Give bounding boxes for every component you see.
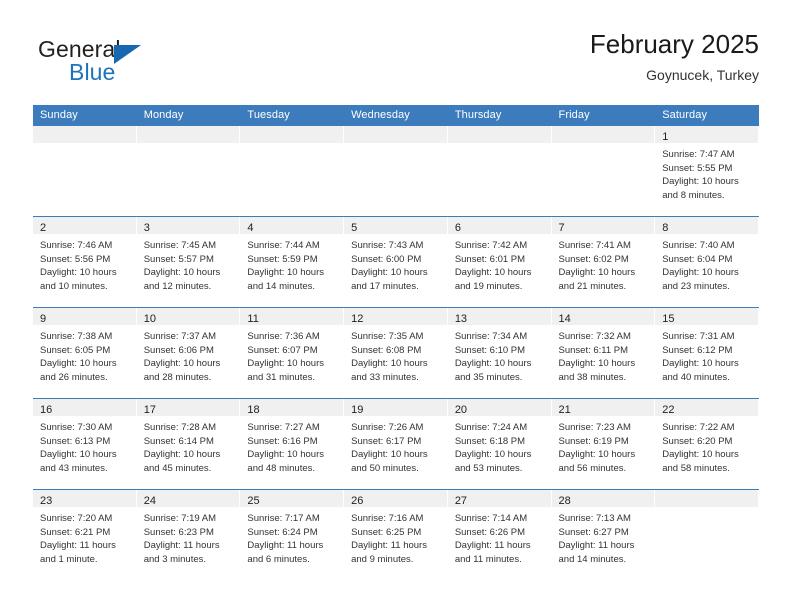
day-number: 27	[455, 495, 467, 507]
daylight-duration-line2: and 3 minutes.	[144, 553, 235, 567]
daylight-duration-line2: and 35 minutes.	[455, 371, 546, 385]
calendar-cell-empty	[448, 126, 552, 217]
daylight-duration-line1: Daylight: 10 hours	[559, 266, 650, 280]
day-number-band: 4	[240, 217, 344, 234]
daylight-duration-line2: and 10 minutes.	[40, 280, 131, 294]
calendar-day-cell[interactable]: 21Sunrise: 7:23 AMSunset: 6:19 PMDayligh…	[552, 399, 656, 490]
daylight-duration-line2: and 28 minutes.	[144, 371, 235, 385]
day-number-band: 6	[448, 217, 552, 234]
calendar-day-cell[interactable]: 3Sunrise: 7:45 AMSunset: 5:57 PMDaylight…	[137, 217, 241, 308]
daylight-duration-line1: Daylight: 10 hours	[351, 266, 442, 280]
sunset-time: Sunset: 6:12 PM	[662, 344, 753, 358]
day-number: 17	[144, 404, 156, 416]
daylight-duration-line1: Daylight: 10 hours	[247, 266, 338, 280]
daylight-duration-line2: and 31 minutes.	[247, 371, 338, 385]
daylight-duration-line2: and 14 minutes.	[559, 553, 650, 567]
calendar-day-cell[interactable]: 18Sunrise: 7:27 AMSunset: 6:16 PMDayligh…	[240, 399, 344, 490]
day-number-band: 10	[137, 308, 241, 325]
sunrise-time: Sunrise: 7:28 AM	[144, 421, 235, 435]
day-details: Sunrise: 7:28 AMSunset: 6:14 PMDaylight:…	[137, 416, 241, 475]
sunrise-time: Sunrise: 7:41 AM	[559, 239, 650, 253]
day-number-band: 16	[33, 399, 137, 416]
sunset-time: Sunset: 6:24 PM	[247, 526, 338, 540]
weekday-header-wednesday: Wednesday	[344, 105, 448, 126]
day-details: Sunrise: 7:34 AMSunset: 6:10 PMDaylight:…	[448, 325, 552, 384]
day-details: Sunrise: 7:27 AMSunset: 6:16 PMDaylight:…	[240, 416, 344, 475]
daylight-duration-line1: Daylight: 10 hours	[40, 448, 131, 462]
daylight-duration-line2: and 11 minutes.	[455, 553, 546, 567]
daylight-duration-line1: Daylight: 10 hours	[559, 357, 650, 371]
daylight-duration-line1: Daylight: 10 hours	[351, 448, 442, 462]
sunrise-time: Sunrise: 7:17 AM	[247, 512, 338, 526]
day-number: 11	[247, 313, 258, 325]
calendar-week-row: 2Sunrise: 7:46 AMSunset: 5:56 PMDaylight…	[33, 217, 759, 308]
sunrise-time: Sunrise: 7:40 AM	[662, 239, 753, 253]
page-title: February 2025	[590, 28, 759, 60]
daylight-duration-line1: Daylight: 10 hours	[662, 175, 753, 189]
sunset-time: Sunset: 5:55 PM	[662, 162, 753, 176]
daylight-duration-line1: Daylight: 10 hours	[559, 448, 650, 462]
daylight-duration-line1: Daylight: 10 hours	[662, 266, 753, 280]
day-number-band: 22	[655, 399, 759, 416]
day-number: 20	[455, 404, 467, 416]
sunrise-time: Sunrise: 7:30 AM	[40, 421, 131, 435]
day-details: Sunrise: 7:30 AMSunset: 6:13 PMDaylight:…	[33, 416, 137, 475]
sunrise-time: Sunrise: 7:43 AM	[351, 239, 442, 253]
sunrise-time: Sunrise: 7:22 AM	[662, 421, 753, 435]
daylight-duration-line2: and 6 minutes.	[247, 553, 338, 567]
day-number: 7	[559, 222, 565, 234]
calendar-day-cell[interactable]: 4Sunrise: 7:44 AMSunset: 5:59 PMDaylight…	[240, 217, 344, 308]
day-number-band: 12	[344, 308, 448, 325]
daylight-duration-line1: Daylight: 10 hours	[247, 448, 338, 462]
day-number: 21	[559, 404, 571, 416]
daylight-duration-line1: Daylight: 10 hours	[247, 357, 338, 371]
daylight-duration-line1: Daylight: 11 hours	[559, 539, 650, 553]
day-number: 3	[144, 222, 150, 234]
sunset-time: Sunset: 6:02 PM	[559, 253, 650, 267]
day-number-band: 24	[137, 490, 241, 507]
daylight-duration-line1: Daylight: 11 hours	[455, 539, 546, 553]
sunset-time: Sunset: 6:04 PM	[662, 253, 753, 267]
day-details: Sunrise: 7:40 AMSunset: 6:04 PMDaylight:…	[655, 234, 759, 293]
daylight-duration-line1: Daylight: 10 hours	[40, 357, 131, 371]
sunrise-time: Sunrise: 7:37 AM	[144, 330, 235, 344]
weekday-header-friday: Friday	[552, 105, 656, 126]
day-details: Sunrise: 7:42 AMSunset: 6:01 PMDaylight:…	[448, 234, 552, 293]
daylight-duration-line2: and 21 minutes.	[559, 280, 650, 294]
day-number-band	[33, 126, 137, 143]
weekday-header-tuesday: Tuesday	[240, 105, 344, 126]
page-header: General Blue February 2025 Goynucek, Tur…	[33, 28, 759, 98]
calendar-cell-empty	[655, 490, 759, 581]
calendar-day-cell[interactable]: 2Sunrise: 7:46 AMSunset: 5:56 PMDaylight…	[33, 217, 137, 308]
sunrise-time: Sunrise: 7:27 AM	[247, 421, 338, 435]
day-number-band	[448, 126, 552, 143]
weekday-header-thursday: Thursday	[448, 105, 552, 126]
weekday-header-sunday: Sunday	[33, 105, 137, 126]
sunset-time: Sunset: 6:23 PM	[144, 526, 235, 540]
day-details: Sunrise: 7:23 AMSunset: 6:19 PMDaylight:…	[552, 416, 656, 475]
sunset-time: Sunset: 6:16 PM	[247, 435, 338, 449]
day-details: Sunrise: 7:47 AMSunset: 5:55 PMDaylight:…	[655, 143, 759, 202]
weekday-header-row: Sunday Monday Tuesday Wednesday Thursday…	[33, 105, 759, 126]
day-details: Sunrise: 7:14 AMSunset: 6:26 PMDaylight:…	[448, 507, 552, 566]
daylight-duration-line2: and 58 minutes.	[662, 462, 753, 476]
sunrise-time: Sunrise: 7:13 AM	[559, 512, 650, 526]
sunset-time: Sunset: 6:13 PM	[40, 435, 131, 449]
sunset-time: Sunset: 5:57 PM	[144, 253, 235, 267]
day-details: Sunrise: 7:36 AMSunset: 6:07 PMDaylight:…	[240, 325, 344, 384]
day-number: 22	[662, 404, 674, 416]
calendar-week-row: 1Sunrise: 7:47 AMSunset: 5:55 PMDaylight…	[33, 126, 759, 217]
sunrise-time: Sunrise: 7:24 AM	[455, 421, 546, 435]
day-number: 10	[144, 313, 156, 325]
calendar-day-cell[interactable]: 26Sunrise: 7:16 AMSunset: 6:25 PMDayligh…	[344, 490, 448, 581]
sunrise-time: Sunrise: 7:34 AM	[455, 330, 546, 344]
day-details: Sunrise: 7:19 AMSunset: 6:23 PMDaylight:…	[137, 507, 241, 566]
day-number-band: 19	[344, 399, 448, 416]
day-number: 15	[662, 313, 674, 325]
calendar-day-cell[interactable]: 15Sunrise: 7:31 AMSunset: 6:12 PMDayligh…	[655, 308, 759, 399]
calendar-cell-empty	[552, 126, 656, 217]
day-number-band	[655, 490, 759, 507]
daylight-duration-line1: Daylight: 11 hours	[351, 539, 442, 553]
sunset-time: Sunset: 5:56 PM	[40, 253, 131, 267]
day-number-band: 5	[344, 217, 448, 234]
daylight-duration-line1: Daylight: 10 hours	[662, 448, 753, 462]
sunset-time: Sunset: 6:00 PM	[351, 253, 442, 267]
logo-text-blue: Blue	[69, 59, 115, 86]
daylight-duration-line1: Daylight: 10 hours	[455, 448, 546, 462]
sunrise-time: Sunrise: 7:36 AM	[247, 330, 338, 344]
calendar-body: 1Sunrise: 7:47 AMSunset: 5:55 PMDaylight…	[33, 126, 759, 580]
calendar-day-cell[interactable]: 8Sunrise: 7:40 AMSunset: 6:04 PMDaylight…	[655, 217, 759, 308]
day-number: 9	[40, 313, 46, 325]
day-number-band: 17	[137, 399, 241, 416]
calendar-cell-empty	[33, 126, 137, 217]
sunset-time: Sunset: 6:06 PM	[144, 344, 235, 358]
day-number: 4	[247, 222, 253, 234]
daylight-duration-line1: Daylight: 10 hours	[662, 357, 753, 371]
calendar-week-row: 16Sunrise: 7:30 AMSunset: 6:13 PMDayligh…	[33, 399, 759, 490]
daylight-duration-line1: Daylight: 10 hours	[144, 266, 235, 280]
daylight-duration-line2: and 1 minute.	[40, 553, 131, 567]
day-number: 8	[662, 222, 668, 234]
day-number-band: 28	[552, 490, 656, 507]
day-number-band: 20	[448, 399, 552, 416]
sunrise-sunset-calendar: Sunday Monday Tuesday Wednesday Thursday…	[33, 105, 759, 580]
day-number-band: 23	[33, 490, 137, 507]
day-number: 12	[351, 313, 363, 325]
daylight-duration-line1: Daylight: 10 hours	[455, 266, 546, 280]
daylight-duration-line2: and 45 minutes.	[144, 462, 235, 476]
sunset-time: Sunset: 6:25 PM	[351, 526, 442, 540]
calendar-day-cell[interactable]: 10Sunrise: 7:37 AMSunset: 6:06 PMDayligh…	[137, 308, 241, 399]
day-number-band: 8	[655, 217, 759, 234]
daylight-duration-line2: and 40 minutes.	[662, 371, 753, 385]
calendar-day-cell[interactable]: 12Sunrise: 7:35 AMSunset: 6:08 PMDayligh…	[344, 308, 448, 399]
calendar-week-row: 23Sunrise: 7:20 AMSunset: 6:21 PMDayligh…	[33, 490, 759, 581]
day-number-band: 15	[655, 308, 759, 325]
day-number: 19	[351, 404, 363, 416]
daylight-duration-line2: and 17 minutes.	[351, 280, 442, 294]
sunrise-time: Sunrise: 7:16 AM	[351, 512, 442, 526]
calendar-day-cell[interactable]: 22Sunrise: 7:22 AMSunset: 6:20 PMDayligh…	[655, 399, 759, 490]
day-number: 23	[40, 495, 52, 507]
sunset-time: Sunset: 6:08 PM	[351, 344, 442, 358]
daylight-duration-line1: Daylight: 10 hours	[144, 448, 235, 462]
daylight-duration-line2: and 8 minutes.	[662, 189, 753, 203]
daylight-duration-line1: Daylight: 10 hours	[144, 357, 235, 371]
daylight-duration-line2: and 26 minutes.	[40, 371, 131, 385]
sunset-time: Sunset: 6:01 PM	[455, 253, 546, 267]
general-blue-logo[interactable]: General Blue	[38, 36, 238, 92]
daylight-duration-line1: Daylight: 11 hours	[144, 539, 235, 553]
day-details: Sunrise: 7:17 AMSunset: 6:24 PMDaylight:…	[240, 507, 344, 566]
weekday-header-saturday: Saturday	[655, 105, 759, 126]
calendar-cell-empty	[240, 126, 344, 217]
sunset-time: Sunset: 6:17 PM	[351, 435, 442, 449]
sunset-time: Sunset: 6:07 PM	[247, 344, 338, 358]
daylight-duration-line2: and 50 minutes.	[351, 462, 442, 476]
sunrise-time: Sunrise: 7:32 AM	[559, 330, 650, 344]
day-number-band	[137, 126, 241, 143]
sunset-time: Sunset: 5:59 PM	[247, 253, 338, 267]
sunset-time: Sunset: 6:11 PM	[559, 344, 650, 358]
calendar-cell-empty	[344, 126, 448, 217]
daylight-duration-line1: Daylight: 10 hours	[455, 357, 546, 371]
day-number-band: 25	[240, 490, 344, 507]
daylight-duration-line1: Daylight: 10 hours	[351, 357, 442, 371]
sunset-time: Sunset: 6:19 PM	[559, 435, 650, 449]
day-details: Sunrise: 7:37 AMSunset: 6:06 PMDaylight:…	[137, 325, 241, 384]
day-number: 5	[351, 222, 357, 234]
daylight-duration-line2: and 53 minutes.	[455, 462, 546, 476]
day-number-band	[552, 126, 656, 143]
daylight-duration-line2: and 9 minutes.	[351, 553, 442, 567]
day-details: Sunrise: 7:44 AMSunset: 5:59 PMDaylight:…	[240, 234, 344, 293]
sunrise-time: Sunrise: 7:19 AM	[144, 512, 235, 526]
calendar-day-cell[interactable]: 9Sunrise: 7:38 AMSunset: 6:05 PMDaylight…	[33, 308, 137, 399]
sunrise-time: Sunrise: 7:14 AM	[455, 512, 546, 526]
calendar-day-cell[interactable]: 1Sunrise: 7:47 AMSunset: 5:55 PMDaylight…	[655, 126, 759, 217]
day-details: Sunrise: 7:38 AMSunset: 6:05 PMDaylight:…	[33, 325, 137, 384]
day-number: 6	[455, 222, 461, 234]
daylight-duration-line2: and 56 minutes.	[559, 462, 650, 476]
day-number: 16	[40, 404, 52, 416]
daylight-duration-line2: and 23 minutes.	[662, 280, 753, 294]
day-details: Sunrise: 7:31 AMSunset: 6:12 PMDaylight:…	[655, 325, 759, 384]
sunset-time: Sunset: 6:20 PM	[662, 435, 753, 449]
day-number-band: 13	[448, 308, 552, 325]
sunrise-time: Sunrise: 7:31 AM	[662, 330, 753, 344]
day-details: Sunrise: 7:35 AMSunset: 6:08 PMDaylight:…	[344, 325, 448, 384]
calendar-day-cell[interactable]: 25Sunrise: 7:17 AMSunset: 6:24 PMDayligh…	[240, 490, 344, 581]
daylight-duration-line2: and 43 minutes.	[40, 462, 131, 476]
day-number: 1	[662, 131, 668, 143]
sunset-time: Sunset: 6:21 PM	[40, 526, 131, 540]
sunrise-time: Sunrise: 7:45 AM	[144, 239, 235, 253]
daylight-duration-line2: and 12 minutes.	[144, 280, 235, 294]
sunrise-time: Sunrise: 7:23 AM	[559, 421, 650, 435]
calendar-day-cell[interactable]: 28Sunrise: 7:13 AMSunset: 6:27 PMDayligh…	[552, 490, 656, 581]
calendar-day-cell[interactable]: 6Sunrise: 7:42 AMSunset: 6:01 PMDaylight…	[448, 217, 552, 308]
day-number: 24	[144, 495, 156, 507]
day-number-band: 21	[552, 399, 656, 416]
sunset-time: Sunset: 6:05 PM	[40, 344, 131, 358]
daylight-duration-line2: and 48 minutes.	[247, 462, 338, 476]
calendar-page: General Blue February 2025 Goynucek, Tur…	[0, 0, 792, 612]
calendar-day-cell[interactable]: 20Sunrise: 7:24 AMSunset: 6:18 PMDayligh…	[448, 399, 552, 490]
day-number-band	[344, 126, 448, 143]
sunrise-time: Sunrise: 7:26 AM	[351, 421, 442, 435]
daylight-duration-line2: and 38 minutes.	[559, 371, 650, 385]
calendar-day-cell[interactable]: 14Sunrise: 7:32 AMSunset: 6:11 PMDayligh…	[552, 308, 656, 399]
day-number: 26	[351, 495, 363, 507]
day-details: Sunrise: 7:13 AMSunset: 6:27 PMDaylight:…	[552, 507, 656, 566]
daylight-duration-line1: Daylight: 11 hours	[40, 539, 131, 553]
day-number: 25	[247, 495, 259, 507]
sunrise-time: Sunrise: 7:42 AM	[455, 239, 546, 253]
weekday-header-monday: Monday	[137, 105, 241, 126]
title-block: February 2025 Goynucek, Turkey	[590, 28, 759, 85]
day-details: Sunrise: 7:26 AMSunset: 6:17 PMDaylight:…	[344, 416, 448, 475]
day-number: 18	[247, 404, 259, 416]
calendar-day-cell[interactable]: 7Sunrise: 7:41 AMSunset: 6:02 PMDaylight…	[552, 217, 656, 308]
day-number-band: 14	[552, 308, 656, 325]
day-number-band: 1	[655, 126, 759, 143]
sunset-time: Sunset: 6:18 PM	[455, 435, 546, 449]
day-number-band: 7	[552, 217, 656, 234]
day-number-band: 27	[448, 490, 552, 507]
calendar-week-row: 9Sunrise: 7:38 AMSunset: 6:05 PMDaylight…	[33, 308, 759, 399]
sunset-time: Sunset: 6:10 PM	[455, 344, 546, 358]
daylight-duration-line2: and 33 minutes.	[351, 371, 442, 385]
calendar-day-cell[interactable]: 24Sunrise: 7:19 AMSunset: 6:23 PMDayligh…	[137, 490, 241, 581]
day-number-band: 26	[344, 490, 448, 507]
day-details: Sunrise: 7:22 AMSunset: 6:20 PMDaylight:…	[655, 416, 759, 475]
sunrise-time: Sunrise: 7:47 AM	[662, 148, 753, 162]
sunrise-time: Sunrise: 7:38 AM	[40, 330, 131, 344]
calendar-day-cell[interactable]: 16Sunrise: 7:30 AMSunset: 6:13 PMDayligh…	[33, 399, 137, 490]
calendar-day-cell[interactable]: 13Sunrise: 7:34 AMSunset: 6:10 PMDayligh…	[448, 308, 552, 399]
calendar-day-cell[interactable]: 11Sunrise: 7:36 AMSunset: 6:07 PMDayligh…	[240, 308, 344, 399]
logo-triangle-icon	[114, 45, 141, 64]
daylight-duration-line1: Daylight: 11 hours	[247, 539, 338, 553]
day-number-band	[240, 126, 344, 143]
day-number: 13	[455, 313, 467, 325]
day-details: Sunrise: 7:43 AMSunset: 6:00 PMDaylight:…	[344, 234, 448, 293]
day-details: Sunrise: 7:16 AMSunset: 6:25 PMDaylight:…	[344, 507, 448, 566]
day-details: Sunrise: 7:32 AMSunset: 6:11 PMDaylight:…	[552, 325, 656, 384]
calendar-cell-empty	[137, 126, 241, 217]
sunset-time: Sunset: 6:27 PM	[559, 526, 650, 540]
sunset-time: Sunset: 6:14 PM	[144, 435, 235, 449]
day-details: Sunrise: 7:20 AMSunset: 6:21 PMDaylight:…	[33, 507, 137, 566]
calendar-day-cell[interactable]: 5Sunrise: 7:43 AMSunset: 6:00 PMDaylight…	[344, 217, 448, 308]
day-number-band: 18	[240, 399, 344, 416]
sunrise-time: Sunrise: 7:20 AM	[40, 512, 131, 526]
day-details: Sunrise: 7:24 AMSunset: 6:18 PMDaylight:…	[448, 416, 552, 475]
page-subtitle-location: Goynucek, Turkey	[590, 65, 759, 85]
calendar-day-cell[interactable]: 19Sunrise: 7:26 AMSunset: 6:17 PMDayligh…	[344, 399, 448, 490]
day-number-band: 2	[33, 217, 137, 234]
day-number-band: 9	[33, 308, 137, 325]
calendar-day-cell[interactable]: 23Sunrise: 7:20 AMSunset: 6:21 PMDayligh…	[33, 490, 137, 581]
sunset-time: Sunset: 6:26 PM	[455, 526, 546, 540]
day-details: Sunrise: 7:46 AMSunset: 5:56 PMDaylight:…	[33, 234, 137, 293]
day-number: 28	[559, 495, 571, 507]
day-number-band: 3	[137, 217, 241, 234]
calendar-day-cell[interactable]: 27Sunrise: 7:14 AMSunset: 6:26 PMDayligh…	[448, 490, 552, 581]
daylight-duration-line1: Daylight: 10 hours	[40, 266, 131, 280]
daylight-duration-line2: and 14 minutes.	[247, 280, 338, 294]
daylight-duration-line2: and 19 minutes.	[455, 280, 546, 294]
calendar-day-cell[interactable]: 17Sunrise: 7:28 AMSunset: 6:14 PMDayligh…	[137, 399, 241, 490]
sunrise-time: Sunrise: 7:44 AM	[247, 239, 338, 253]
day-number: 2	[40, 222, 46, 234]
day-number: 14	[559, 313, 571, 325]
sunrise-time: Sunrise: 7:35 AM	[351, 330, 442, 344]
day-details: Sunrise: 7:45 AMSunset: 5:57 PMDaylight:…	[137, 234, 241, 293]
day-details: Sunrise: 7:41 AMSunset: 6:02 PMDaylight:…	[552, 234, 656, 293]
sunrise-time: Sunrise: 7:46 AM	[40, 239, 131, 253]
day-number-band: 11	[240, 308, 344, 325]
